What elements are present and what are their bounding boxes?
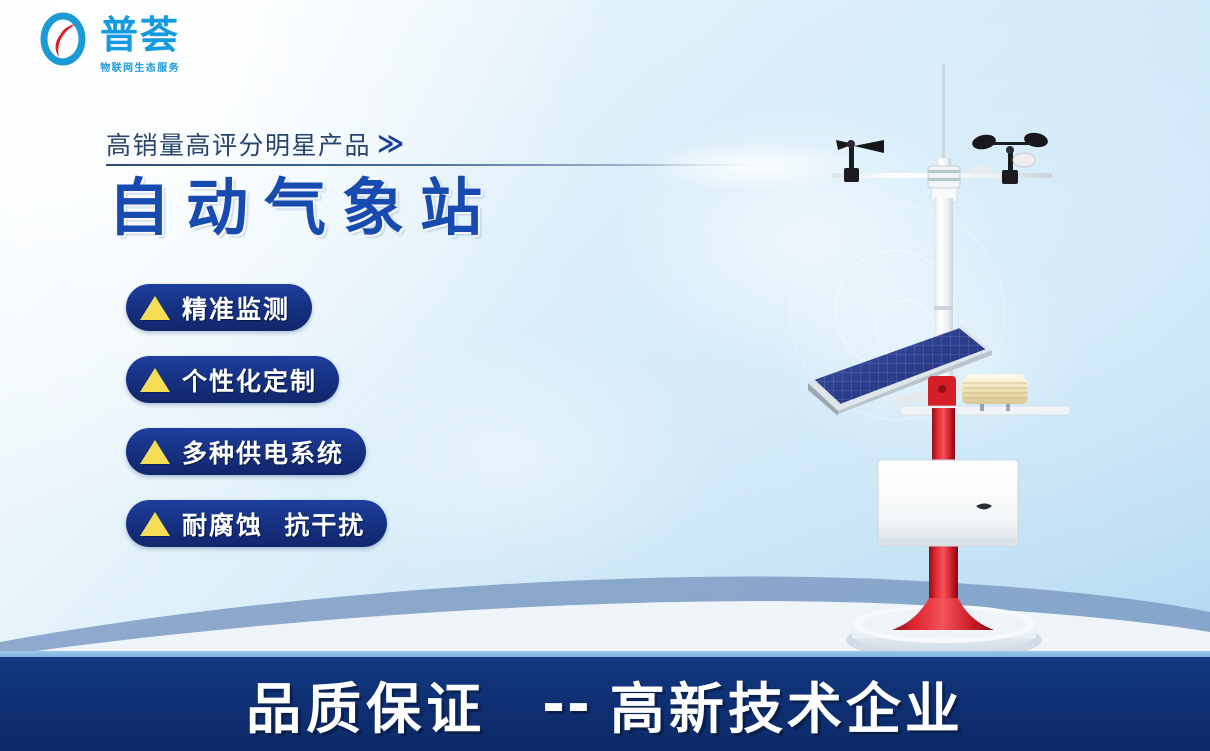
feature-label: 耐腐蚀 抗干扰: [182, 506, 365, 542]
footer-dash: --: [542, 672, 592, 736]
feature-label: 精准监测: [182, 290, 290, 326]
feature-list: 精准监测 个性化定制 多种供电系统 耐腐蚀 抗干扰: [126, 284, 387, 572]
lightning-rod: [942, 64, 945, 160]
feature-label: 个性化定制: [182, 362, 317, 398]
automatic-weather-station-image: [780, 58, 1080, 658]
brand-logo: 普荟 物联网生态服务: [36, 12, 180, 74]
footer-main-text: 品质保证: [246, 664, 486, 744]
sensor-dome: [969, 165, 991, 175]
tagline-divider: [106, 164, 806, 166]
tagline: 高销量高评分明星产品 ≫: [106, 126, 406, 162]
triangle-up-icon: [140, 296, 170, 320]
page-title: 自动气象站: [108, 172, 498, 243]
red-mast: [932, 408, 955, 460]
control-box: [878, 460, 1018, 546]
promo-banner: 普荟 物联网生态服务 高销量高评分明星产品 ≫ 自动气象站 精准监测 个性化定制…: [0, 0, 1210, 751]
brand-subtitle: 物联网生态服务: [100, 59, 180, 74]
feature-pill: 多种供电系统: [126, 428, 366, 475]
footer-banner: 品质保证 -- 高新技术企业: [0, 657, 1210, 751]
double-chevron-right-icon: ≫: [377, 129, 406, 159]
circular-swoosh-logo-icon: [36, 12, 92, 70]
feature-pill: 精准监测: [126, 284, 312, 331]
footer-sub-text: 高新技术企业: [610, 664, 964, 744]
brand-name: 普荟: [100, 16, 180, 54]
triangle-up-icon: [140, 512, 170, 536]
tagline-text: 高销量高评分明星产品: [106, 126, 371, 162]
feature-pill: 个性化定制: [126, 356, 339, 403]
shield-arm: [900, 406, 1070, 415]
radiation-shield: [962, 374, 1028, 411]
feature-label: 多种供电系统: [182, 434, 344, 470]
feature-pill: 耐腐蚀 抗干扰: [126, 500, 387, 547]
triangle-up-icon: [140, 440, 170, 464]
triangle-up-icon: [140, 368, 170, 392]
